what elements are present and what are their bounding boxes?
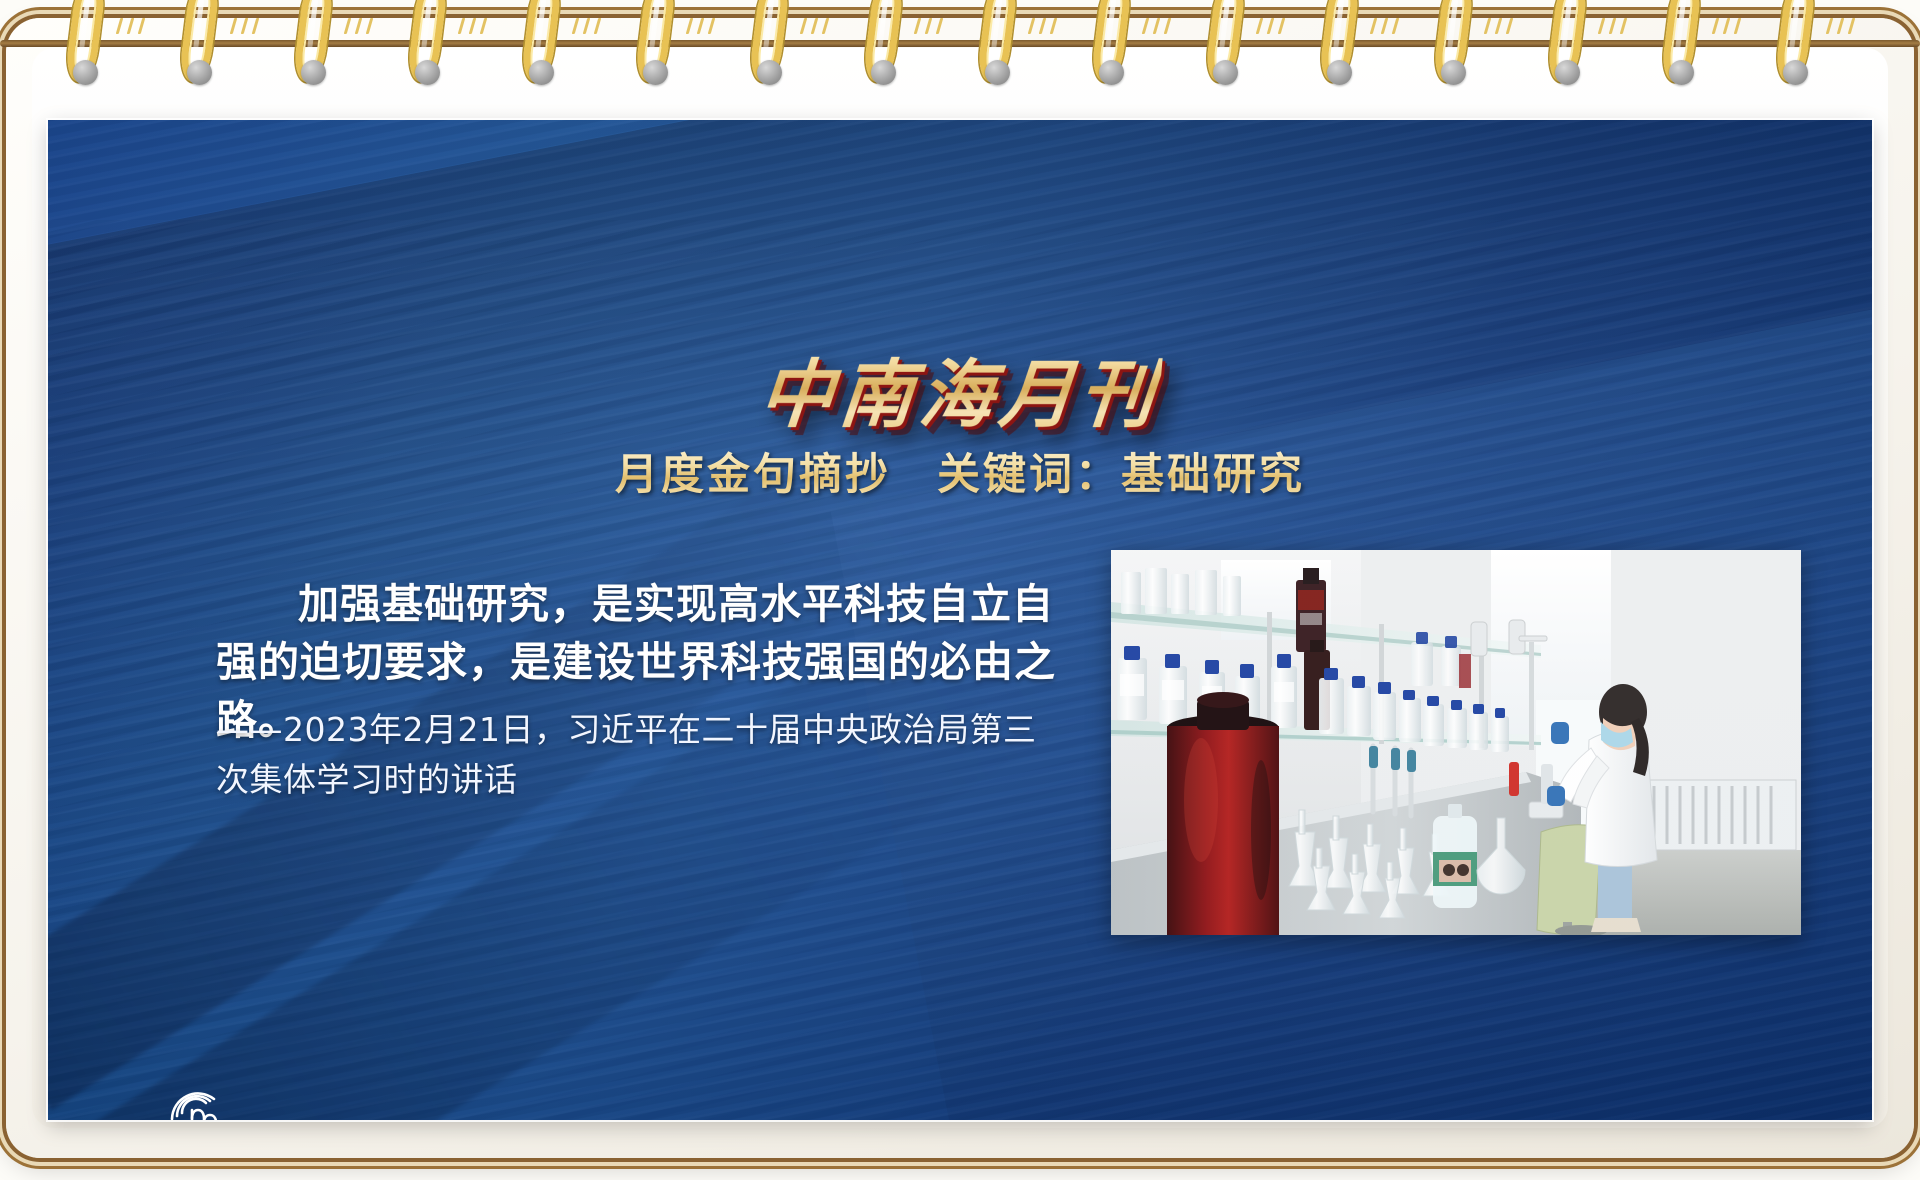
laboratory-photo [1111, 550, 1801, 935]
subtitle: 月度金句摘抄 关键词：基础研究 [48, 440, 1872, 502]
tap-hand-icon[interactable] [164, 1082, 236, 1120]
quote-attribution: ——2023年2月21日，习近平在二十届中央政治局第三次集体学习时的讲话 [216, 705, 1066, 805]
page-title: 中南海月刊 [755, 335, 1164, 442]
title-container: 中南海月刊 [48, 335, 1872, 442]
slide-canvas: 中南海月刊 月度金句摘抄 关键词：基础研究 加强基础研究，是实现高水平科技自立自… [48, 120, 1872, 1120]
notebook-page: 中南海月刊 月度金句摘抄 关键词：基础研究 加强基础研究，是实现高水平科技自立自… [0, 0, 1920, 1180]
